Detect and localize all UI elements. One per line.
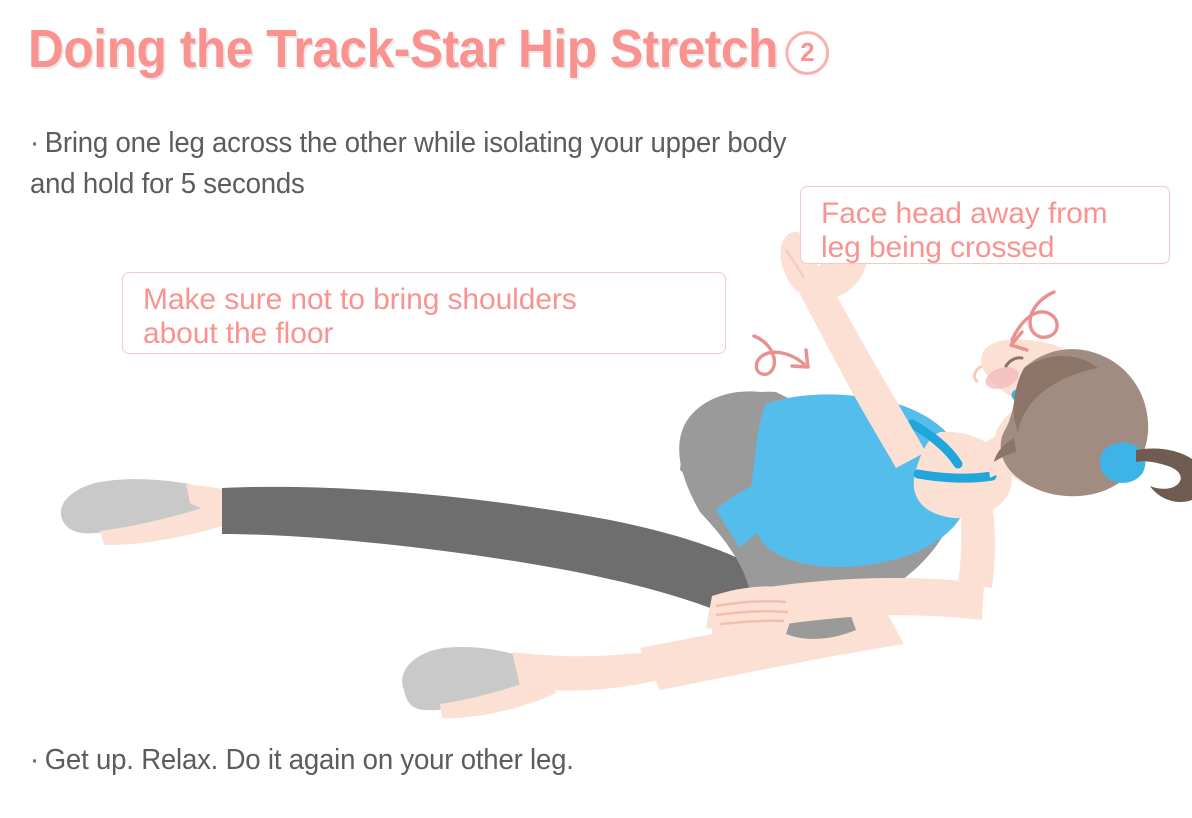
hand-finger-line-1: [716, 601, 786, 606]
ponytail: [1136, 449, 1192, 503]
left-arm-upper: [958, 502, 995, 588]
instruction-bullet-secondary-text: Get up. Relax. Do it again on your other…: [45, 744, 574, 776]
tank-strap-lower: [918, 474, 992, 478]
hair-back: [1001, 349, 1149, 496]
chest-skin: [914, 432, 1012, 519]
callout-face-head-away: Face head away from leg being crossed: [800, 186, 1170, 264]
earring-dot-icon: [1012, 390, 1023, 401]
crossed-shin-legging: [790, 403, 958, 611]
step-number-badge: 2: [786, 31, 830, 75]
arrow-to-head-icon: [1000, 288, 1080, 368]
far-ankle-skin: [100, 500, 240, 545]
neck: [986, 429, 1046, 478]
left-arm-forearm: [712, 578, 984, 636]
far-foot-sock: [61, 479, 205, 533]
bullet-marker-icon: ·: [30, 744, 39, 776]
instruction-bullet-primary-text: Bring one leg across the other while iso…: [30, 127, 786, 200]
page-title-text: Doing the Track-Star Hip Stretch: [28, 19, 778, 79]
near-instep-skin: [512, 650, 666, 691]
near-ankle-skin: [440, 673, 556, 718]
page-title: Doing the Track-Star Hip Stretch2: [28, 20, 828, 79]
crossed-leg-cuff: [786, 602, 856, 639]
crossed-knee-legging: [679, 391, 862, 600]
arrow-to-shoulder-icon: [748, 330, 838, 390]
near-lower-leg: [640, 608, 904, 690]
tank-top-hem: [716, 486, 772, 548]
hand-finger-line-2: [716, 611, 788, 615]
hair-wisp: [994, 438, 1016, 462]
hair-tie: [1100, 443, 1145, 483]
near-foot-sock: [402, 647, 530, 710]
hand-finger-line-3: [720, 621, 784, 624]
instruction-bullet-primary: ·Bring one leg across the other while is…: [30, 123, 786, 205]
bullet-marker-icon: ·: [30, 127, 39, 159]
far-leg-legging: [222, 487, 768, 622]
instruction-bullet-secondary: ·Get up. Relax. Do it again on your othe…: [30, 740, 574, 781]
tank-strap-upper: [912, 424, 958, 464]
far-instep-skin: [186, 484, 262, 525]
tank-top: [751, 394, 970, 567]
callout-shoulders-on-floor: Make sure not to bring shoulders about t…: [122, 272, 726, 354]
hip-legging: [680, 392, 800, 486]
legging-fold-line: [806, 408, 834, 518]
nose-line: [975, 366, 982, 382]
gripping-hand: [706, 586, 808, 629]
